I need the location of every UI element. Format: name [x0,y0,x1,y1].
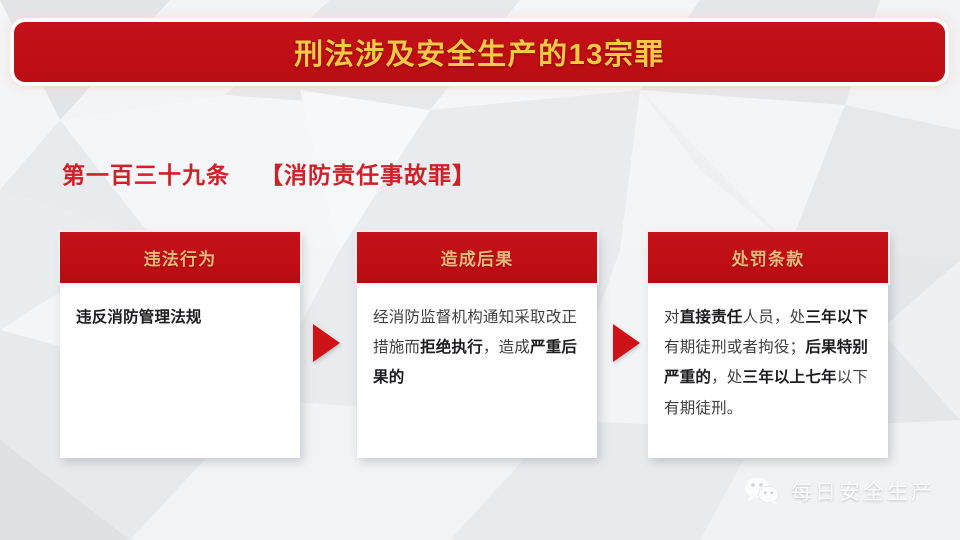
watermark: 每日安全生产 [744,476,935,506]
card-body-violation: 违反消防管理法规 [60,283,300,345]
card-header-consequence: 造成后果 [357,232,597,283]
watermark-label: 每日安全生产 [791,476,935,506]
card-penalty[interactable]: 处罚条款 对直接责任人员，处三年以下有期徒刑或者拘役；后果特别严重的，处三年以上… [648,232,888,458]
subtitle-line: 第一百三十九条【消防责任事故罪】 [62,156,476,190]
title-banner: 刑法涉及安全生产的13宗罪 [14,22,945,82]
triangle-right-icon [613,324,640,362]
subtitle-article: 第一百三十九条 [62,162,230,188]
page-title: 刑法涉及安全生产的13宗罪 [294,31,665,73]
card-body-consequence: 经消防监督机构通知采取改正措施而拒绝执行，造成严重后果的 [357,283,597,406]
card-body-penalty: 对直接责任人员，处三年以下有期徒刑或者拘役；后果特别严重的，处三年以上七年以下有… [648,283,888,436]
card-header-label: 违法行为 [144,245,217,270]
card-header-label: 处罚条款 [732,245,805,270]
subtitle-crime-name: 【消防责任事故罪】 [260,162,476,188]
card-header-penalty: 处罚条款 [648,232,888,283]
triangle-right-icon [313,324,340,362]
slide-canvas: 刑法涉及安全生产的13宗罪 第一百三十九条【消防责任事故罪】 违法行为 违反消防… [0,0,960,540]
card-consequence[interactable]: 造成后果 经消防监督机构通知采取改正措施而拒绝执行，造成严重后果的 [357,232,597,458]
wechat-icon [744,476,780,506]
card-header-violation: 违法行为 [60,232,300,283]
card-header-label: 造成后果 [441,245,514,270]
card-violation[interactable]: 违法行为 违反消防管理法规 [60,232,300,458]
